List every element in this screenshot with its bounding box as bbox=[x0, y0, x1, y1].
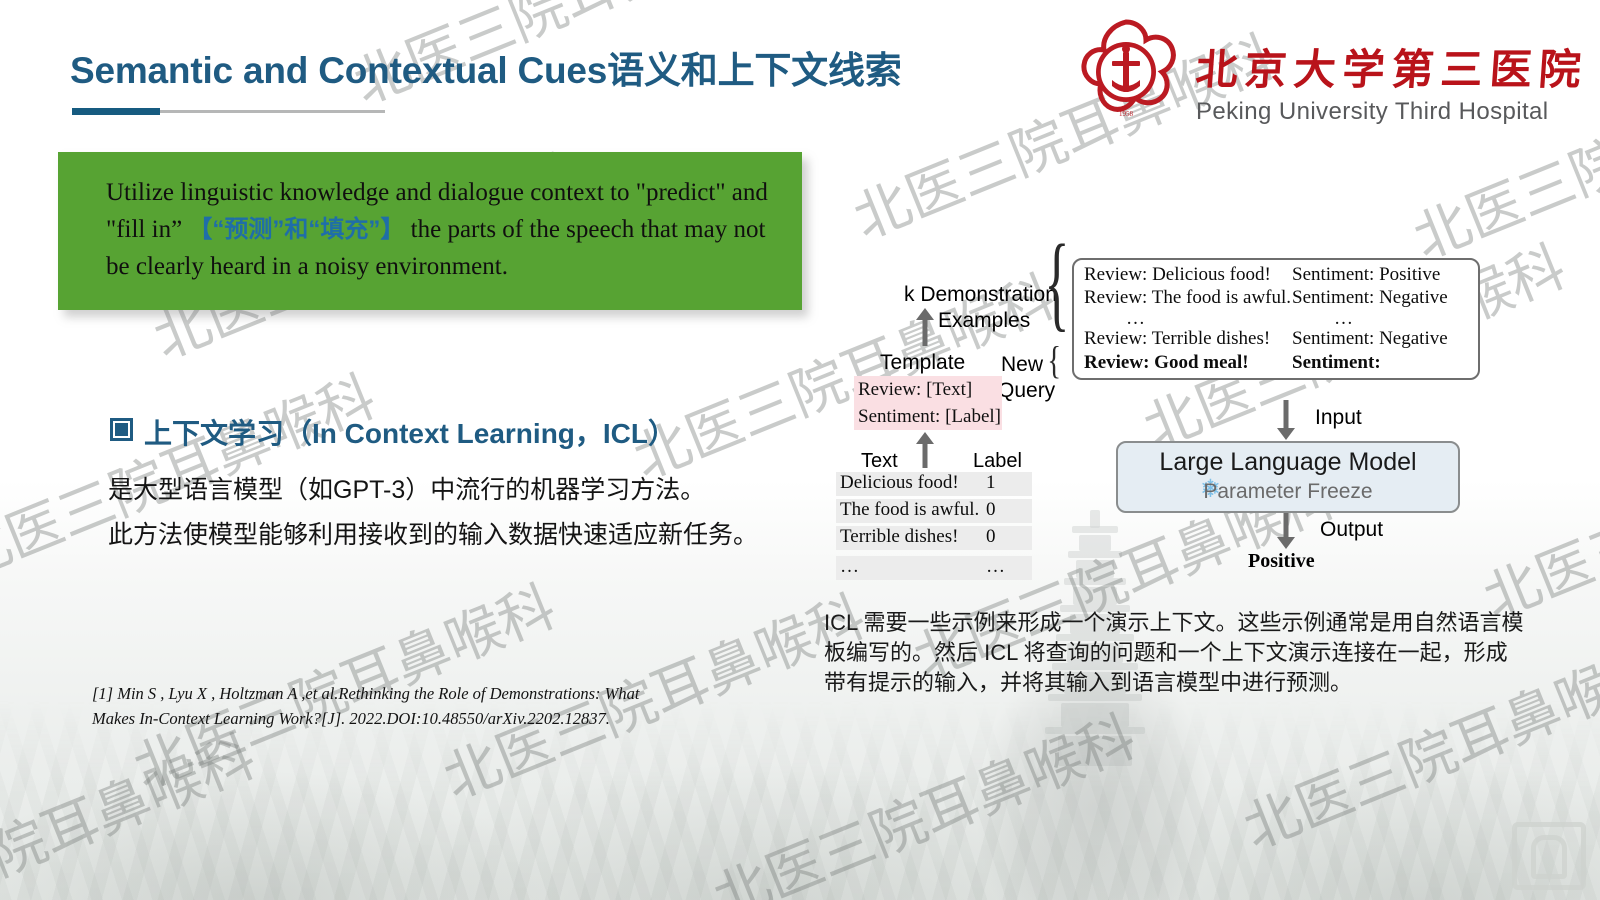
demo-review: Review: Good meal! bbox=[1084, 352, 1249, 374]
demo-review: Review: The food is awful. bbox=[1084, 287, 1291, 309]
output-arrow-label: Output bbox=[1320, 518, 1383, 542]
template-box: Review: [Text] Sentiment: [Label] bbox=[854, 376, 1002, 430]
icl-heading-label: 上下文学习（In Context Learning，ICL） bbox=[144, 418, 676, 449]
icl-body-line-2: 此方法使模型能够利用接收到的输入数据快速适应新任务。 bbox=[108, 515, 758, 551]
corner-watermark-icon bbox=[1512, 822, 1586, 890]
demo-sentiment: Sentiment: Positive bbox=[1292, 264, 1440, 286]
arrow-output-icon bbox=[1276, 511, 1296, 549]
table-row: The food is awful. 0 bbox=[836, 499, 1032, 523]
table-row: … … bbox=[836, 556, 1032, 580]
demo-review: Review: Terrible dishes! bbox=[1084, 328, 1270, 350]
text-column-header: Text bbox=[861, 450, 898, 473]
table-cell-text: Delicious food! bbox=[840, 472, 959, 494]
source-data-table: Delicious food! 1 The food is awful. 0 T… bbox=[836, 472, 1032, 583]
title-underline-accent bbox=[72, 108, 160, 115]
demo-sentiment: Sentiment: Negative bbox=[1292, 328, 1448, 350]
table-cell-text: The food is awful. bbox=[840, 499, 979, 521]
template-box-line-1: Review: [Text] bbox=[854, 376, 1002, 403]
template-box-line-2: Sentiment: [Label] bbox=[854, 403, 1002, 430]
slide-canvas: 北医三院耳鼻喉科 北医三院耳鼻喉科 北医三院耳鼻喉科 北医三院耳鼻喉科 北医三院… bbox=[0, 0, 1600, 900]
callout-text-highlight: 【“预测”和“填充”】 bbox=[188, 216, 404, 243]
demonstration-examples-panel: Review: Delicious food! Sentiment: Posit… bbox=[1072, 258, 1480, 380]
page-title-chinese: 语义和上下文线索 bbox=[607, 50, 901, 91]
logo-english-name: Peking University Third Hospital bbox=[1196, 98, 1549, 126]
explanation-paragraph: ICL 需要一些示例来形成一个演示上下文。这些示例通常是用自然语言模板编写的。然… bbox=[824, 608, 1524, 698]
table-cell-text: Terrible dishes! bbox=[840, 526, 958, 548]
title-underline bbox=[72, 108, 385, 115]
callout-text: Utilize linguistic knowledge and dialogu… bbox=[106, 174, 774, 285]
llm-subtitle: Parameter Freeze bbox=[1118, 480, 1458, 504]
demo-review: Review: Delicious food! bbox=[1084, 264, 1271, 286]
new-query-label-line1: New bbox=[1001, 353, 1043, 377]
icl-body-line-1: 是大型语言模型（如GPT-3）中流行的机器学习方法。 bbox=[108, 470, 705, 506]
large-language-model-box: Large Language Model ❄ Parameter Freeze bbox=[1116, 441, 1460, 513]
table-cell-label: 0 bbox=[986, 526, 996, 548]
demo-sentiment: Sentiment: bbox=[1292, 352, 1381, 374]
page-title-english: Semantic and Contextual Cues bbox=[70, 50, 607, 91]
hospital-logo: 1958 北京大学第三医院 Peking University Third Ho… bbox=[1068, 16, 1538, 128]
table-cell-text: … bbox=[840, 556, 859, 578]
input-arrow-label: Input bbox=[1315, 406, 1362, 430]
citation-reference: [1] Min S , Lyu X , Holtzman A ,et al.Re… bbox=[92, 681, 712, 731]
watermark-text: 北医三院耳鼻喉科 bbox=[700, 692, 1146, 900]
table-cell-label: 1 bbox=[986, 472, 996, 494]
arrow-input-icon bbox=[1276, 400, 1296, 440]
demo-row-query: Review: Good meal! Sentiment: bbox=[1084, 352, 1470, 376]
citation-line-1: [1] Min S , Lyu X , Holtzman A ,et al.Re… bbox=[92, 681, 712, 706]
demo-row: Review: Terrible dishes! Sentiment: Nega… bbox=[1084, 328, 1470, 352]
icl-heading: 上下文学习（In Context Learning，ICL） bbox=[110, 412, 676, 452]
demo-sentiment: … bbox=[1334, 308, 1355, 330]
final-answer-label: Positive bbox=[1248, 550, 1315, 573]
demo-review: … bbox=[1126, 308, 1147, 330]
bullet-square-icon bbox=[110, 418, 133, 441]
template-label: Template bbox=[880, 351, 965, 375]
k-demonstration-label-line1: k Demonstration bbox=[904, 283, 1057, 307]
icl-pipeline-diagram: k Demonstration Examples Template New Qu… bbox=[820, 250, 1520, 590]
k-demonstration-label-line2: Examples bbox=[938, 309, 1030, 333]
callout-box: Utilize linguistic knowledge and dialogu… bbox=[58, 152, 802, 310]
svg-text:1958: 1958 bbox=[1119, 110, 1134, 118]
demo-row: Review: Delicious food! Sentiment: Posit… bbox=[1084, 264, 1470, 288]
table-row: Delicious food! 1 bbox=[836, 472, 1032, 496]
arrow-template-to-demos-icon bbox=[915, 308, 935, 346]
llm-title: Large Language Model bbox=[1118, 448, 1458, 477]
citation-line-2: Makes In-Context Learning Work?[J]. 2022… bbox=[92, 706, 712, 731]
logo-chinese-name: 北京大学第三医院 bbox=[1194, 36, 1590, 97]
table-row: Terrible dishes! 0 bbox=[836, 526, 1032, 550]
hospital-emblem-icon: 1958 bbox=[1068, 16, 1184, 128]
label-column-header: Label bbox=[973, 450, 1022, 473]
watermark-text: 北医三院耳鼻喉科 bbox=[0, 712, 266, 900]
query-brace-icon: { bbox=[1047, 342, 1061, 381]
arrow-table-to-template-icon bbox=[915, 432, 935, 468]
page-title: Semantic and Contextual Cues语义和上下文线索 bbox=[70, 40, 902, 94]
demos-brace-icon: { bbox=[1044, 230, 1069, 337]
table-cell-label: … bbox=[986, 556, 1005, 578]
table-cell-label: 0 bbox=[986, 499, 996, 521]
demo-sentiment: Sentiment: Negative bbox=[1292, 287, 1448, 309]
